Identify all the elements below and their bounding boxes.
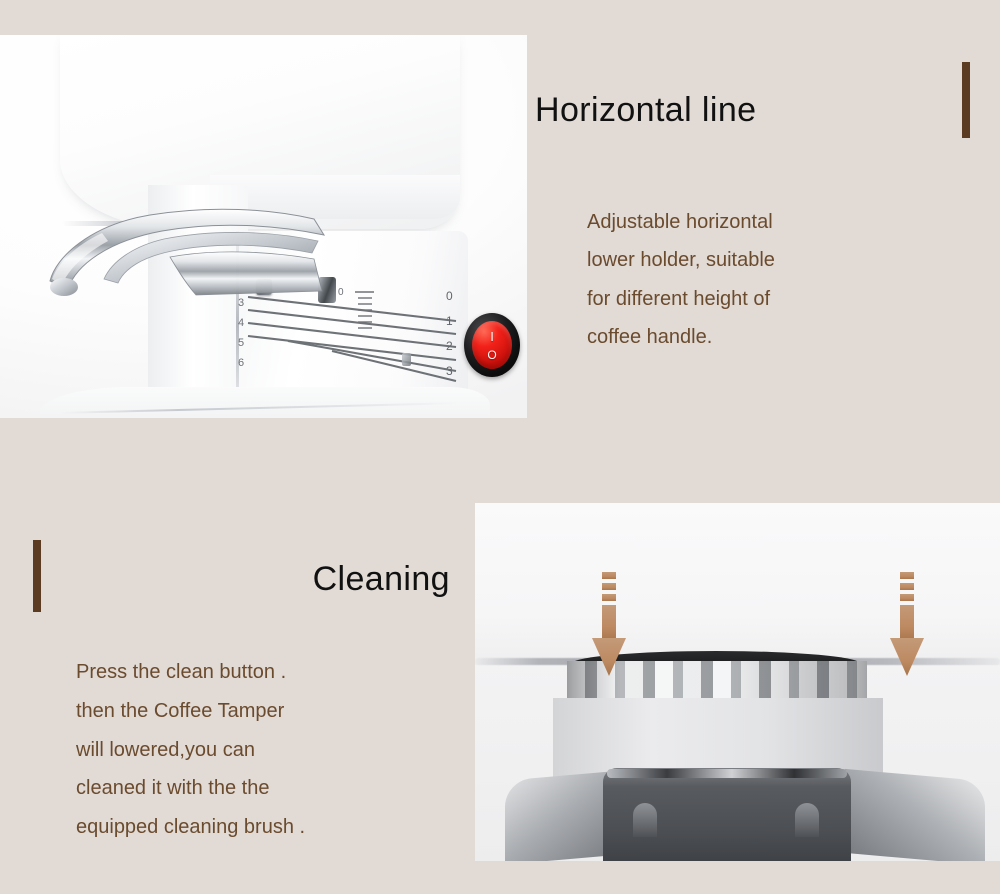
portafilter-holder-lip [607, 769, 847, 778]
down-arrow-icon [592, 572, 626, 680]
switch-symbol-on: I [472, 330, 512, 343]
scale-number: 3 [446, 365, 462, 377]
scale-number: 6 [238, 358, 254, 369]
body-line: Adjustable horizontal [587, 203, 987, 241]
body-line: Press the clean button . [76, 653, 476, 692]
body-line: will lowered,you can [76, 731, 476, 770]
section-two-body: Press the clean button . then the Coffee… [76, 653, 476, 847]
body-line: coffee handle. [587, 318, 987, 356]
power-rocker-switch[interactable]: I O [464, 313, 520, 377]
scale-number: 4 [238, 318, 254, 329]
horizontal-line-photo: 3 4 5 6 0 1 2 3 4 5 6 0 [0, 35, 527, 418]
body-line: equipped cleaning brush . [76, 808, 476, 847]
scale-number: 1 [446, 315, 462, 327]
accent-bar-right [962, 62, 970, 138]
body-line: lower holder, suitable [587, 241, 987, 279]
top-background-strip [0, 0, 1000, 35]
section-one-title: Horizontal line [535, 91, 935, 130]
scale-left-numbers: 3 4 5 6 [238, 298, 254, 369]
portafilter-peg-left [633, 803, 657, 837]
portafilter-wing-right [845, 769, 985, 861]
cleaning-text-block: Cleaning Press the clean button . then t… [0, 470, 475, 894]
cleaning-photo [475, 503, 1000, 861]
body-line: for different height of [587, 280, 987, 318]
body-line: then the Coffee Tamper [76, 692, 476, 731]
chrome-lower-holder-fork [46, 195, 366, 305]
scale-number: 2 [446, 340, 462, 352]
switch-symbol-off: O [472, 349, 512, 361]
section-two-title: Cleaning [0, 560, 450, 599]
product-feature-page: 3 4 5 6 0 1 2 3 4 5 6 0 [0, 0, 1000, 894]
portafilter-peg-right [795, 803, 819, 837]
body-line: cleaned it with the the [76, 769, 476, 808]
scale-number: 0 [446, 290, 462, 302]
down-arrow-icon [890, 572, 924, 680]
section-one-body: Adjustable horizontal lower holder, suit… [587, 203, 987, 357]
horizontal-line-text-block: Horizontal line Adjustable horizontal lo… [527, 35, 1000, 418]
switch-red-cap[interactable]: I O [472, 321, 512, 369]
machine-small-screw [402, 353, 411, 366]
scale-number: 5 [238, 338, 254, 349]
